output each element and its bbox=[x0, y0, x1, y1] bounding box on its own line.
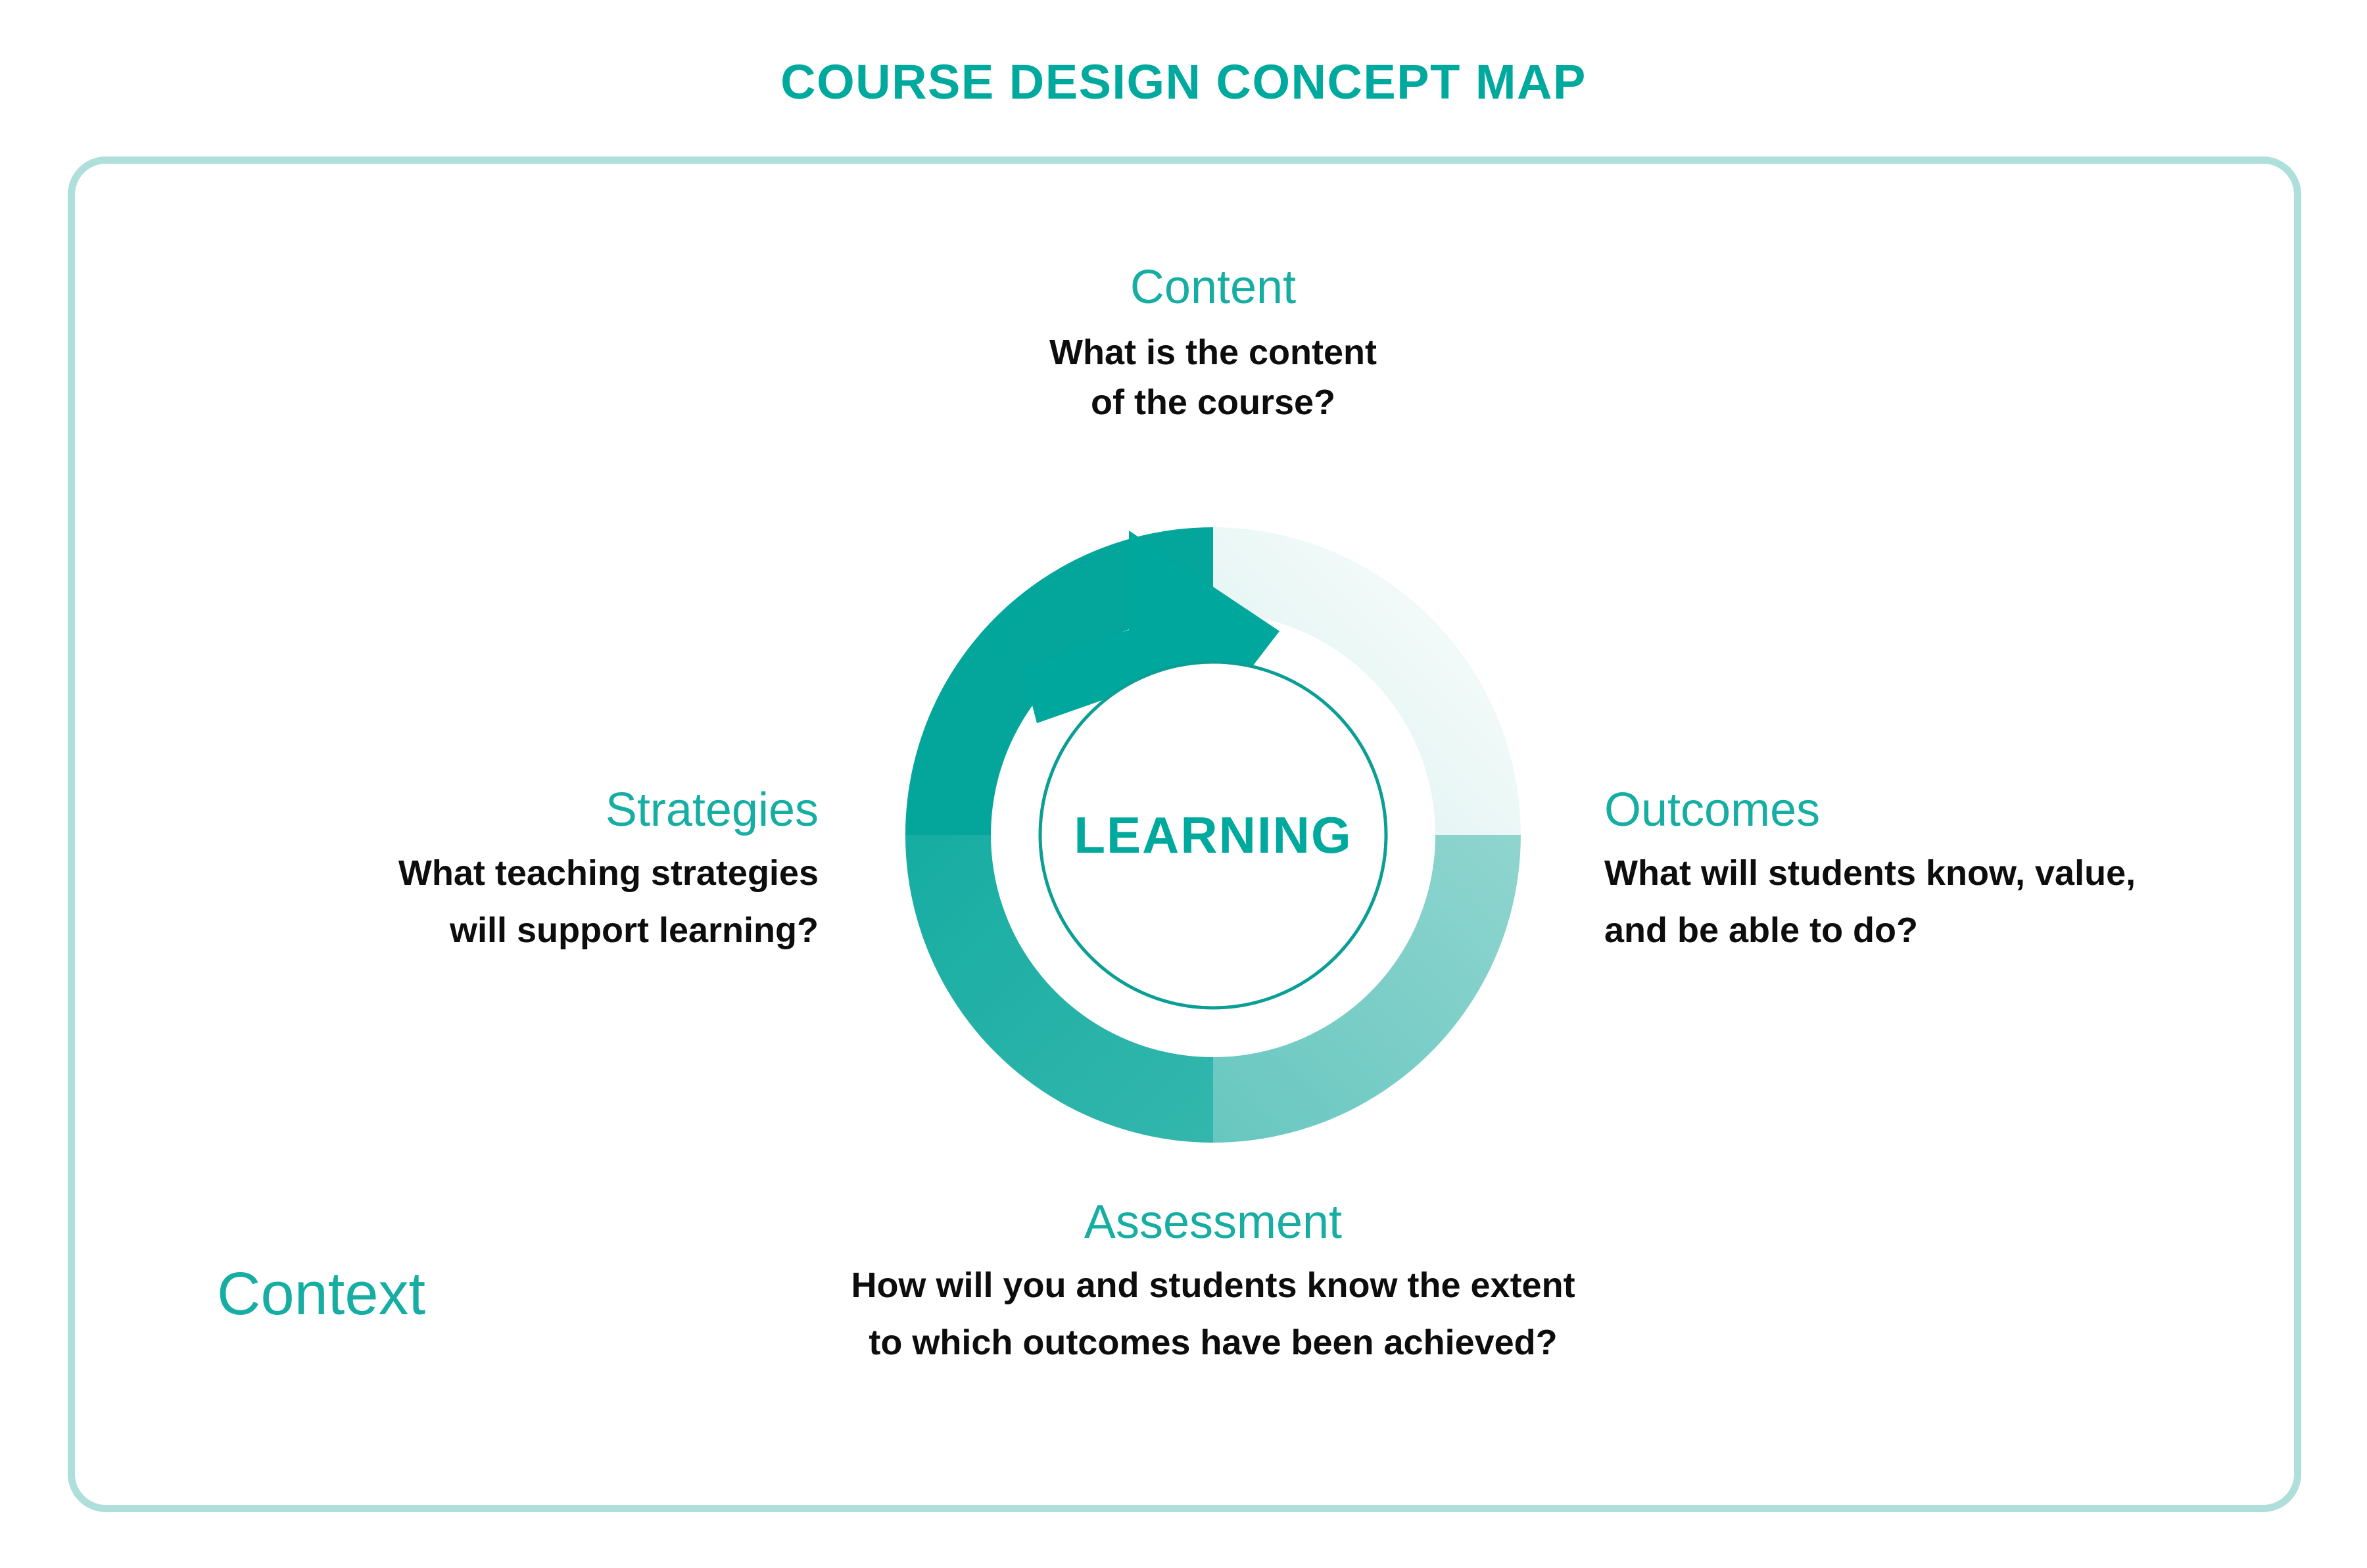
node-context-title: Context bbox=[217, 1262, 585, 1326]
node-outcomes-description: What will students know, value, and be a… bbox=[1604, 845, 2301, 960]
node-assessment-line-2: to which outcomes have been achieved? bbox=[671, 1314, 1756, 1371]
page-title: COURSE DESIGN CONCEPT MAP bbox=[0, 54, 2367, 110]
node-content-line-2: of the course? bbox=[884, 377, 1542, 428]
cycle-arrow-icon bbox=[884, 506, 1542, 1164]
node-outcomes: Outcomes What will students know, value,… bbox=[1604, 786, 2301, 960]
node-strategies-title: Strategies bbox=[92, 786, 819, 836]
node-strategies-line-1: What teaching strategies bbox=[92, 845, 819, 902]
node-content-title: Content bbox=[884, 263, 1542, 313]
node-context: Context bbox=[217, 1262, 585, 1326]
node-content-line-1: What is the content bbox=[884, 327, 1542, 378]
node-outcomes-line-1: What will students know, value, bbox=[1604, 845, 2301, 902]
node-assessment-description: How will you and students know the exten… bbox=[671, 1257, 1756, 1372]
node-assessment-line-1: How will you and students know the exten… bbox=[671, 1257, 1756, 1314]
node-content-description: What is the content of the course? bbox=[884, 327, 1542, 428]
node-strategies-description: What teaching strategies will support le… bbox=[92, 845, 819, 960]
node-strategies: Strategies What teaching strategies will… bbox=[92, 786, 819, 960]
learning-cycle-diagram bbox=[884, 506, 1542, 1164]
node-content: Content What is the content of the cours… bbox=[884, 263, 1542, 428]
node-strategies-line-2: will support learning? bbox=[92, 902, 819, 959]
node-outcomes-line-2: and be able to do? bbox=[1604, 902, 2301, 959]
node-outcomes-title: Outcomes bbox=[1604, 786, 2301, 836]
node-assessment-title: Assessment bbox=[671, 1198, 1756, 1248]
inner-circle bbox=[1040, 662, 1386, 1008]
node-assessment: Assessment How will you and students kno… bbox=[671, 1198, 1756, 1372]
